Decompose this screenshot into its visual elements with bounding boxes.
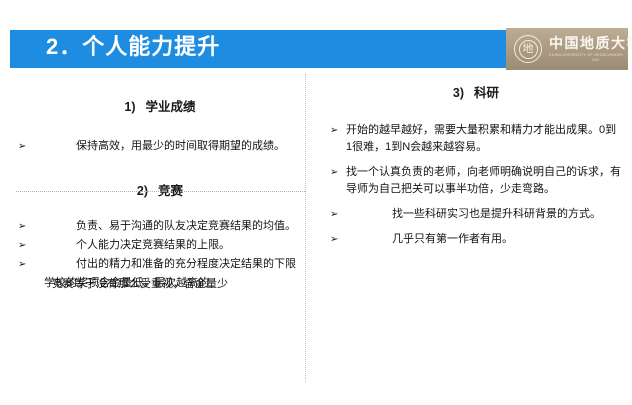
bullet-arrow-icon: ➢ [330,122,338,139]
section-title: 学业成绩 [146,100,196,114]
section-title: 科研 [474,86,499,100]
list-item: ➢ 保持高效，用最少的时间取得期望的成绩。 [16,138,304,155]
list-item-text: 负责、易于沟通的队友决定竞赛结果的均值。 [14,218,304,235]
section-number: 3) [453,86,464,100]
bullet-list: ➢ 负责、易于沟通的队友决定竞赛结果的均值。 ➢ 个人能力决定竞赛结果的上限。 … [16,218,304,273]
list-item-text: 找一些科研实习也是提升科研背景的方式。 [346,206,622,223]
slide-header: 2．个人能力提升 地 中国地质大学 CHINA UNIVERSITY OF GE… [0,28,632,70]
list-item-text: 找一个认真负责的老师，向老师明确说明自己的诉求，有导师为自己把关可以事半功倍，少… [346,164,622,198]
list-item: ➢ 几乎只有第一作者有用。 [330,231,622,248]
list-item-text: 付出的精力和准备的充分程度决定结果的下限 [14,256,304,273]
list-item-text: 保持高效，用最少的时间取得期望的成绩。 [14,138,304,155]
left-column: 1)学业成绩 ➢ 保持高效，用最少的时间取得期望的成绩。 2)竞赛 ➢ [16,76,304,315]
page-title: 2．个人能力提升 [46,33,220,61]
bullet-list: ➢ 开始的越早越好，需要大量积累和精力才能出成果。0到1很难，1到N会越来越容易… [330,122,622,248]
university-logo: 地 中国地质大学 CHINA UNIVERSITY OF GEOSCIENCES… [506,28,628,70]
overlapping-text-block: 学校的奖项含金量低，层次越高的 竞赛等于没有那么受重视，含金量少 [16,275,304,315]
university-founding-year: 1952 [549,58,632,63]
bullet-arrow-icon: ➢ [330,231,338,248]
bullet-arrow-icon: ➢ [18,218,26,235]
list-item-text: 个人能力决定竞赛结果的上限。 [14,237,304,254]
bullet-arrow-icon: ➢ [330,164,338,181]
bullet-list: ➢ 保持高效，用最少的时间取得期望的成绩。 [16,138,304,155]
section-number: 1) [124,100,135,114]
overlap-text-secondary: 竞赛等于没有那么受重视，含金量少 [52,276,304,293]
section-academic-performance: 1)学业成绩 ➢ 保持高效，用最少的时间取得期望的成绩。 [16,76,304,155]
slide-content: 1)学业成绩 ➢ 保持高效，用最少的时间取得期望的成绩。 2)竞赛 ➢ [0,76,632,396]
list-item-text: 开始的越早越好，需要大量积累和精力才能出成果。0到1很难，1到N会越来越容易。 [346,122,622,156]
column-divider [305,74,306,382]
bullet-arrow-icon: ➢ [18,256,26,273]
list-item: ➢ 找一个认真负责的老师，向老师明确说明自己的诉求，有导师为自己把关可以事半功倍… [330,164,622,198]
section-competition: 2)竞赛 ➢ 负责、易于沟通的队友决定竞赛结果的均值。 ➢ 个人能力决定竞赛结果… [16,157,304,315]
seal-glyph: 地 [523,44,534,55]
bullet-arrow-icon: ➢ [18,237,26,254]
list-item-text: 几乎只有第一作者有用。 [346,231,622,248]
presentation-slide: 2．个人能力提升 地 中国地质大学 CHINA UNIVERSITY OF GE… [0,0,632,405]
university-name-cn: 中国地质大学 [549,36,632,52]
list-item: ➢ 找一些科研实习也是提升科研背景的方式。 [330,206,622,223]
list-item: ➢ 个人能力决定竞赛结果的上限。 [16,237,304,254]
list-item: ➢ 负责、易于沟通的队友决定竞赛结果的均值。 [16,218,304,235]
section-divider [16,191,305,192]
section-heading: 1)学业成绩 [16,98,304,116]
bullet-arrow-icon: ➢ [18,138,26,155]
section-heading: 3)科研 [330,84,622,102]
list-item: ➢ 付出的精力和准备的充分程度决定结果的下限 [16,256,304,273]
section-research: 3)科研 ➢ 开始的越早越好，需要大量积累和精力才能出成果。0到1很难，1到N会… [330,76,622,248]
right-column: 3)科研 ➢ 开始的越早越好，需要大量积累和精力才能出成果。0到1很难，1到N会… [330,76,622,250]
list-item: ➢ 开始的越早越好，需要大量积累和精力才能出成果。0到1很难，1到N会越来越容易… [330,122,622,156]
university-seal-icon: 地 [514,35,542,63]
bullet-arrow-icon: ➢ [330,206,338,223]
logo-text: 中国地质大学 CHINA UNIVERSITY OF GEOSCIENCES 1… [549,36,632,63]
